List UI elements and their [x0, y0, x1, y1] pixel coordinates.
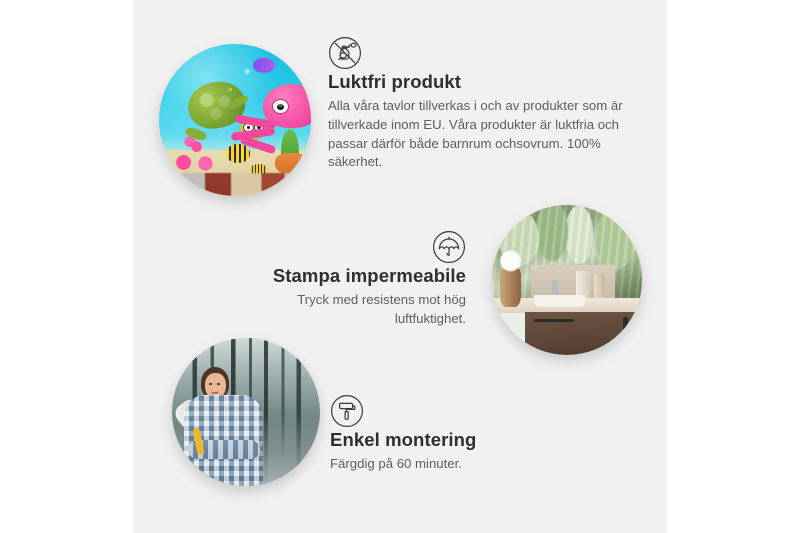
feature-heading: Luktfri produkt: [328, 70, 628, 93]
umbrella-icon: [432, 230, 466, 264]
feature-heading: Stampa impermeabile: [228, 264, 466, 287]
feature-text-odour-free: Luktfri produkt Alla våra tavlor tillver…: [328, 36, 628, 172]
feature-heading: Enkel montering: [330, 428, 580, 451]
feature-text-waterproof: Stampa impermeabile Tryck med resistens …: [228, 230, 466, 329]
paint-roller-icon: [330, 394, 364, 428]
vase: [500, 268, 521, 307]
underwater-scene-illustration: [159, 44, 311, 196]
smile: [211, 389, 219, 395]
forest-wallpaper-photo: [172, 338, 320, 486]
no-spray-bottle-icon: [328, 36, 362, 70]
product-feature-infographic: Luktfri produkt Alla våra tavlor tillver…: [0, 0, 800, 533]
sink-basin: [534, 295, 585, 307]
eye: [209, 383, 212, 385]
vanity-cabinet: [525, 312, 642, 356]
eye: [217, 383, 220, 385]
feature-text-installation: Enkel montering Färgdig på 60 minuter.: [330, 394, 580, 474]
white-flowers: [494, 249, 527, 273]
bathroom-photo: [492, 205, 642, 355]
feature-image-bathroom: [492, 205, 642, 355]
feature-image-installer: [172, 338, 320, 486]
toiletry-bottle: [594, 274, 605, 300]
feature-body: Alla våra tavlor tillverkas i och av pro…: [328, 97, 628, 172]
woman-installer: [181, 365, 267, 486]
water-bubbles: [159, 44, 311, 196]
feature-image-underwater: [159, 44, 311, 196]
feature-body: Tryck med resistens mot hög luftfuktighe…: [228, 291, 466, 328]
feature-body: Färgdig på 60 minuter.: [330, 455, 580, 474]
